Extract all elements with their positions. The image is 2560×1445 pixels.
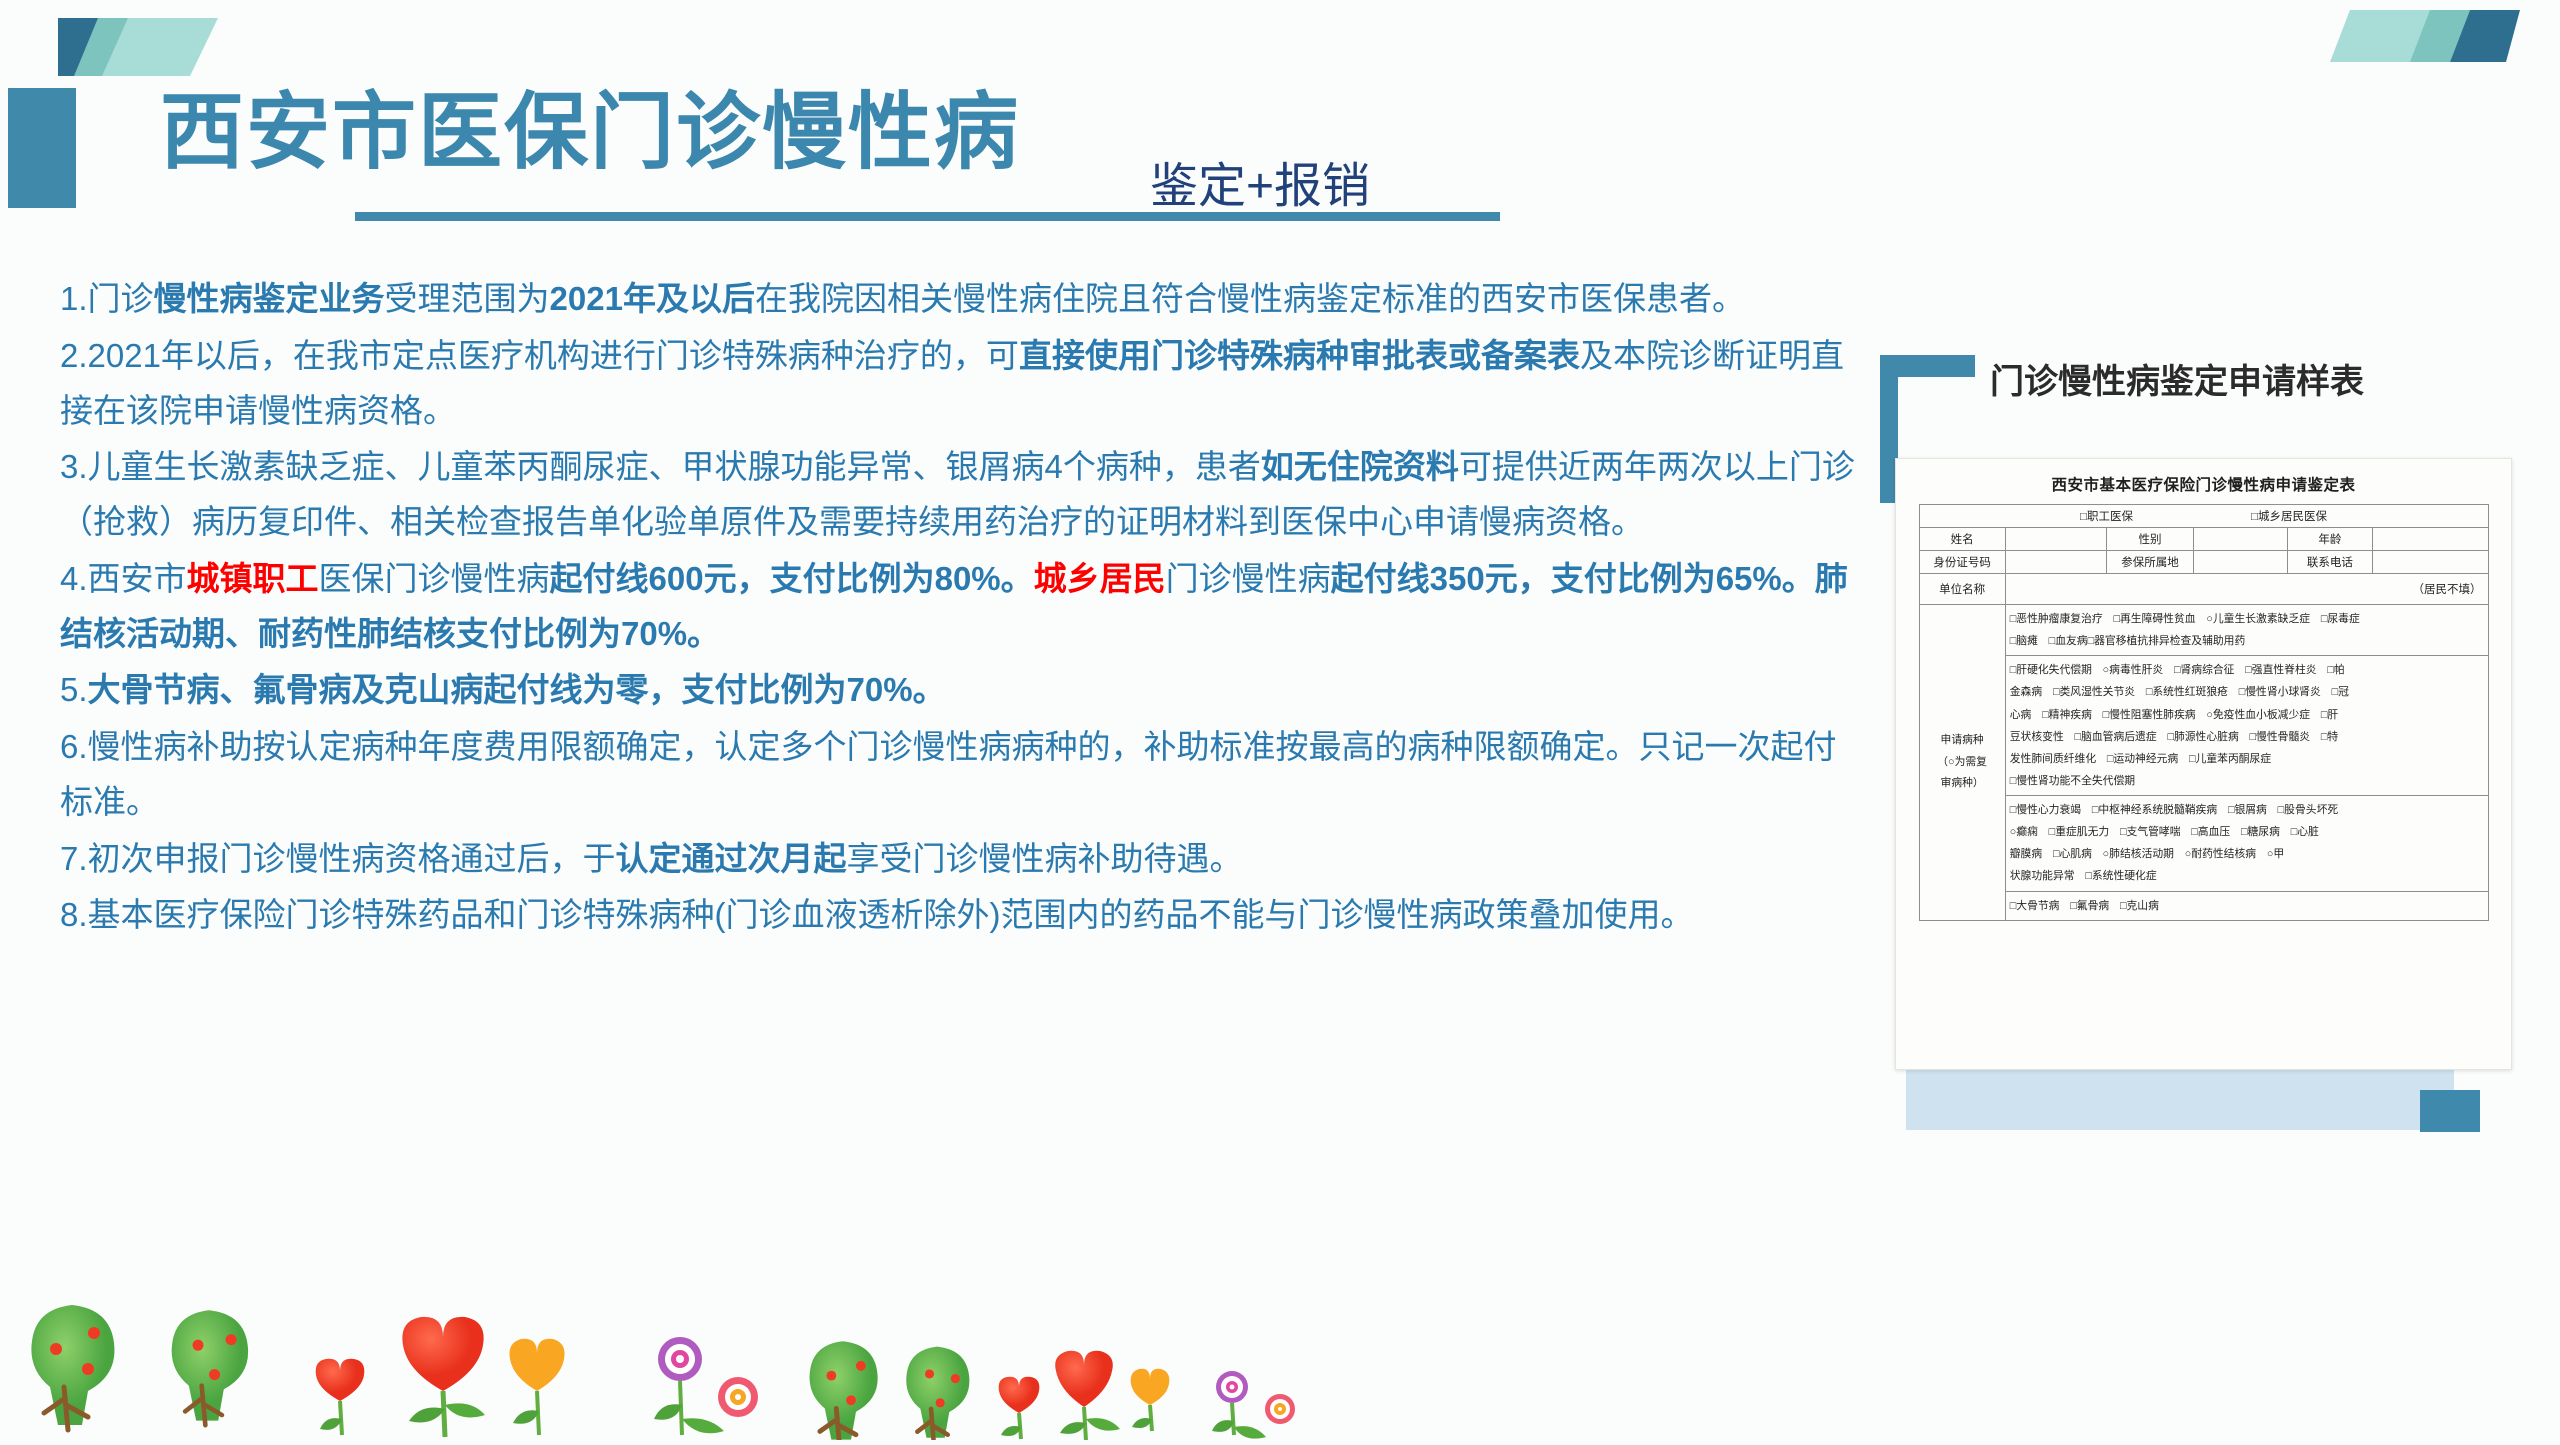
panel-corner-horizontal <box>1880 355 1975 377</box>
paragraph-6: 6.慢性病补助按认定病种年度费用限额确定，认定多个门诊慢性病病种的，补助标准按最… <box>60 720 1855 830</box>
disease-line[interactable]: □慢性心力衰竭 □中枢神经系统脱髓鞘疾病 □银屑病 □股骨头坏死 <box>2010 799 2484 821</box>
flower-icon <box>718 1377 758 1417</box>
input-id-number[interactable] <box>2005 551 2107 574</box>
label-gender: 性别 <box>2107 528 2193 551</box>
disease-label-line2: （○为需复 <box>1924 752 2001 774</box>
table-row-id: 身份证号码 参保所属地 联系电话 <box>1919 551 2488 574</box>
paragraph-4: 4.西安市城镇职工医保门诊慢性病起付线600元，支付比例为80%。城乡居民门诊慢… <box>60 552 1855 662</box>
disease-line[interactable]: ○癫痫 □重症肌无力 □支气管哮喘 □高血压 □糖尿病 □心脏 <box>2010 821 2484 843</box>
page-subtitle: 鉴定+报销 <box>1150 146 1370 216</box>
disease-line[interactable]: 心病 □精神疾病 □慢性阻塞性肺疾病 ○免疫性血小板减少症 □肝 <box>2010 704 2484 726</box>
tree-icon <box>906 1347 969 1440</box>
disease-line[interactable]: □恶性肿瘤康复治疗 □再生障碍性贫血 ○儿童生长激素缺乏症 □尿毒症 <box>2010 608 2484 630</box>
input-phone[interactable] <box>2373 551 2488 574</box>
panel-title: 门诊慢性病鉴定申请样表 <box>1990 354 2364 403</box>
disease-line[interactable]: 瓣膜病 □心肌病 ○肺结核活动期 ○耐药性结核病 ○甲 <box>2010 843 2484 865</box>
disease-line[interactable]: □肝硬化失代偿期 ○病毒性肝炎 □肾病综合征 □强直性脊柱炎 □帕 <box>2010 659 2484 681</box>
paragraph-2: 2.2021年以后，在我市定点医疗机构进行门诊特殊病种治疗的，可直接使用门诊特殊… <box>60 329 1855 439</box>
flower-icon <box>654 1337 724 1435</box>
tree-icon <box>172 1310 248 1425</box>
paragraph-5: 5.大骨节病、氟骨病及克山病起付线为零，支付比例为70%。 <box>60 663 1855 718</box>
paragraph-1: 1.门诊慢性病鉴定业务受理范围为2021年及以后在我院因相关慢性病住院且符合慢性… <box>60 272 1855 327</box>
disease-line[interactable]: 豆状核变性 □脑血管病后遗症 □肺源性心脏病 □慢性骨髓炎 □特 <box>2010 726 2484 748</box>
application-form-table: □职工医保□城乡居民医保 姓名 性别 年龄 身份证号码 参保所属地 联系电话 <box>1919 504 2489 921</box>
label-phone: 联系电话 <box>2287 551 2373 574</box>
decor-garden <box>10 1295 1410 1440</box>
flower-icon <box>316 1359 365 1435</box>
flower-icon <box>999 1377 1040 1439</box>
checkbox-employee-insurance[interactable]: □职工医保 <box>2080 511 2133 523</box>
disease-line[interactable]: 发性肺间质纤维化 □运动神经元病 □儿童苯丙酮尿症 <box>2010 748 2484 770</box>
label-name: 姓名 <box>1919 528 2005 551</box>
flower-icon <box>509 1339 564 1435</box>
disease-label-line3: 审病种） <box>1924 773 2001 795</box>
table-row-disease-group-4: □大骨节病 □氟骨病 □克山病 <box>1919 891 2488 920</box>
flower-icon <box>1265 1394 1295 1424</box>
input-insured-place[interactable] <box>2193 551 2287 574</box>
label-id-number: 身份证号码 <box>1919 551 2005 574</box>
flower-icon <box>1131 1369 1170 1431</box>
form-heading: 西安市基本医疗保险门诊慢性病申请鉴定表 <box>1896 459 2511 504</box>
tree-icon <box>810 1341 878 1440</box>
disease-line[interactable]: 金森病 □类风湿性关节炎 □系统性红斑狼疮 □慢性肾小球肾炎 □冠 <box>2010 681 2484 703</box>
label-age: 年龄 <box>2287 528 2373 551</box>
table-row-disease-group-2: □肝硬化失代偿期 ○病毒性肝炎 □肾病综合征 □强直性脊柱炎 □帕 金森病 □类… <box>1919 656 2488 796</box>
table-row-unit: 单位名称 （居民不填） <box>1919 574 2488 605</box>
unit-note: （居民不填） <box>2413 581 2482 597</box>
label-insured-place: 参保所属地 <box>2107 551 2193 574</box>
panel-bottom-square <box>2420 1090 2480 1132</box>
table-row-disease-group-3: □慢性心力衰竭 □中枢神经系统脱髓鞘疾病 □银屑病 □股骨头坏死 ○癫痫 □重症… <box>1919 796 2488 892</box>
sample-form-panel: 门诊慢性病鉴定申请样表 西安市基本医疗保险门诊慢性病申请鉴定表 □职工医保□城乡… <box>1880 330 2520 1300</box>
paragraph-7: 7.初次申报门诊慢性病资格通过后，于认定通过次月起享受门诊慢性病补助待遇。 <box>60 832 1855 887</box>
input-unit-name[interactable]: （居民不填） <box>2005 574 2488 605</box>
tree-icon <box>31 1305 114 1430</box>
label-disease-category: 申请病种 （○为需复 审病种） <box>1919 605 2005 921</box>
paragraph-8: 8.基本医疗保险门诊特殊药品和门诊特殊病种(门诊血液透析除外)范围内的药品不能与… <box>60 888 1855 943</box>
title-accent-bar <box>8 88 76 208</box>
disease-line[interactable]: 状腺功能异常 □系统性硬化症 <box>2010 865 2484 887</box>
label-unit-name: 单位名称 <box>1919 574 2005 605</box>
input-name[interactable] <box>2005 528 2107 551</box>
disease-line[interactable]: □大骨节病 □氟骨病 □克山病 <box>2010 895 2484 917</box>
body-content: 1.门诊慢性病鉴定业务受理范围为2021年及以后在我院因相关慢性病住院且符合慢性… <box>60 272 1855 945</box>
flower-icon <box>402 1317 485 1437</box>
flower-icon <box>1212 1371 1266 1439</box>
flower-icon <box>1055 1351 1120 1440</box>
paragraph-3: 3.儿童生长激素缺乏症、儿童苯丙酮尿症、甲状腺功能异常、银屑病4个病种，患者如无… <box>60 440 1855 550</box>
slide-title-block: 西安市医保门诊慢性病 鉴定+报销 <box>0 88 1900 213</box>
title-underline <box>355 212 1500 221</box>
disease-line[interactable]: □脑瘫 □血友病□器官移植抗排异检查及辅助用药 <box>2010 630 2484 652</box>
panel-bottom-band <box>1906 1070 2454 1130</box>
checkbox-resident-insurance[interactable]: □城乡居民医保 <box>2251 511 2327 523</box>
table-row-name: 姓名 性别 年龄 <box>1919 528 2488 551</box>
disease-line[interactable]: □慢性肾功能不全失代偿期 <box>2010 770 2484 792</box>
page-title: 西安市医保门诊慢性病 <box>160 80 1020 185</box>
table-row-disease-group-1: 申请病种 （○为需复 审病种） □恶性肿瘤康复治疗 □再生障碍性贫血 ○儿童生长… <box>1919 605 2488 656</box>
form-image-card: 西安市基本医疗保险门诊慢性病申请鉴定表 □职工医保□城乡居民医保 姓名 性别 年… <box>1895 458 2512 1070</box>
disease-label-line1: 申请病种 <box>1924 730 2001 752</box>
table-row-insurance: □职工医保□城乡居民医保 <box>1919 505 2488 528</box>
input-gender[interactable] <box>2193 528 2287 551</box>
input-age[interactable] <box>2373 528 2488 551</box>
decor-ribbon-topleft <box>58 18 278 78</box>
decor-ribbon-topright <box>2320 10 2520 65</box>
